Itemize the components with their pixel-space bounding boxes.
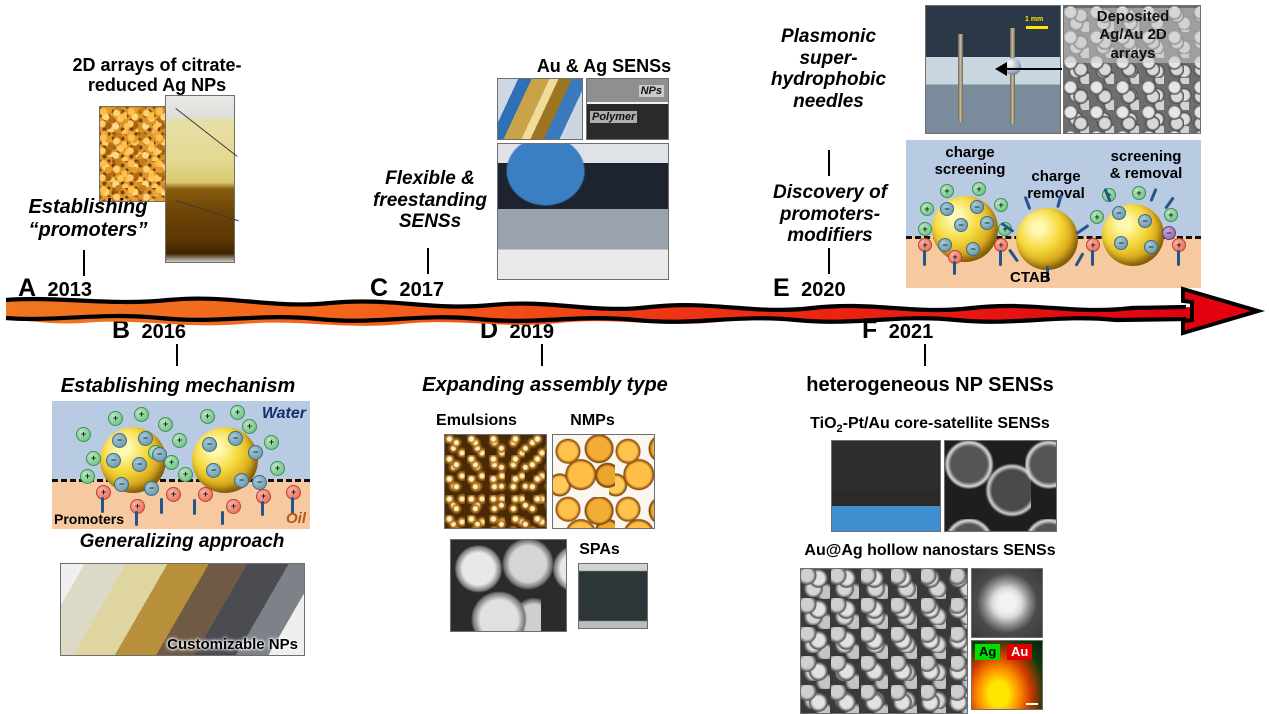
positive-charge: +: [994, 198, 1008, 212]
negative-charge: −: [954, 218, 968, 232]
section-b-subtitle: Generalizing approach: [48, 531, 316, 553]
negative-charge: −: [114, 477, 129, 492]
timeline-figure: 2D arrays of citrate- reduced Ag NPs Est…: [0, 0, 1269, 714]
milestone-a-year: 2013: [48, 279, 93, 301]
deposited-array-caption: Deposited Ag/Au 2D arrays: [1064, 8, 1201, 63]
ctab-label3-line1: screening: [1092, 148, 1200, 165]
section-a-heading: 2D arrays of citrate- reduced Ag NPs: [42, 55, 272, 95]
section-a-subtitle-line1: Establishing: [8, 196, 168, 219]
positive-charge: +: [1132, 186, 1146, 200]
negative-charge: −: [966, 242, 980, 256]
negative-charge: −: [144, 481, 159, 496]
deposited-caption-line1: Deposited: [1064, 8, 1201, 26]
negative-charge: −: [970, 200, 984, 214]
positive-charge: +: [242, 419, 257, 434]
section-a-heading-line1: 2D arrays of citrate-: [42, 55, 272, 75]
section-a-subtitle-line2: “promoters”: [8, 219, 168, 242]
milestone-e-letter: E: [773, 274, 790, 302]
tio2-title-pre: TiO: [810, 415, 836, 432]
section-d-title: Expanding assembly type: [400, 374, 690, 397]
freestanding-film-photo: [497, 143, 669, 280]
milestone-f[interactable]: F 2021: [862, 316, 933, 345]
negative-charge: −: [938, 238, 952, 252]
positive-charge: +: [972, 182, 986, 196]
promoter-head: +: [226, 499, 241, 514]
positive-charge: +: [134, 407, 149, 422]
promoter-tail: [1091, 250, 1094, 266]
oil-label: Oil: [286, 510, 306, 527]
section-a-subtitle: Establishing “promoters”: [8, 196, 168, 242]
promoter-tail: [221, 511, 224, 525]
sem-cross-section-image: NPs Polymer: [586, 78, 669, 140]
milestone-b-year: 2016: [142, 321, 187, 343]
milestone-d-year: 2019: [510, 321, 555, 343]
negative-charge: −: [112, 433, 127, 448]
nanostars-group-title: Au@Ag hollow nanostars SENSs: [770, 542, 1090, 560]
negative-charge: −: [106, 453, 121, 468]
negative-charge: −: [980, 216, 994, 230]
section-e-caption-line1: Discovery of: [766, 182, 894, 204]
positive-charge: +: [230, 405, 245, 420]
milestone-d[interactable]: D 2019: [480, 316, 554, 345]
ctab-label-screening-removal: screening & removal: [1092, 148, 1200, 182]
spas-label: SPAs: [552, 541, 647, 559]
needle-left: [958, 34, 963, 122]
positive-charge: +: [80, 469, 95, 484]
tem-core-satellite-image: [944, 440, 1057, 532]
promoter-head: +: [166, 487, 181, 502]
section-e-subtitle-line2: super-: [766, 48, 891, 70]
negative-charge: −: [1114, 236, 1128, 250]
nanostar-field-sem-image: [800, 568, 968, 714]
section-b-stem: [176, 344, 178, 366]
section-e-subtitle: Plasmonic super- hydrophobic needles: [766, 26, 891, 113]
positive-charge: +: [200, 409, 215, 424]
section-c-subtitle-line2: freestanding: [360, 190, 500, 212]
section-e-stem-lower: [828, 248, 830, 274]
negative-charge: −: [132, 457, 147, 472]
spas-vial-image: [578, 563, 648, 629]
section-c-heading: Au & Ag SENSs: [494, 56, 714, 76]
section-a-heading-line2: reduced Ag NPs: [42, 75, 272, 95]
negative-charge: −: [1144, 240, 1158, 254]
milestone-b[interactable]: B 2016: [112, 316, 186, 345]
negative-charge: −: [202, 437, 217, 452]
edx-map-image: Ag Au: [971, 640, 1043, 710]
edx-scale-bar: [1026, 703, 1038, 705]
negative-charge: −: [152, 447, 167, 462]
section-c-stem: [427, 248, 429, 274]
emulsions-label: Emulsions: [424, 412, 529, 430]
section-f-stem: [924, 344, 926, 366]
milestone-a[interactable]: A 2013: [18, 274, 92, 303]
emulsions-image: [444, 434, 547, 529]
modifier-charge: −: [1162, 226, 1176, 240]
section-b-title: Establishing mechanism: [38, 375, 318, 398]
milestone-d-letter: D: [480, 316, 498, 344]
positive-charge: +: [172, 433, 187, 448]
section-c-subtitle-line3: SENSs: [360, 211, 500, 233]
positive-charge: +: [178, 467, 193, 482]
milestone-f-year: 2021: [889, 321, 934, 343]
section-f-title: heterogeneous NP SENSs: [790, 374, 1070, 396]
positive-charge: +: [86, 451, 101, 466]
customizable-nps-caption: Customizable NPs: [167, 636, 298, 653]
nmps-label: NMPs: [540, 412, 645, 430]
ctab-label2-line1: charge: [1010, 168, 1102, 185]
promoter-tail: [999, 250, 1002, 266]
ctab-surfactant-label: CTAB: [1010, 269, 1051, 286]
section-c-subtitle-line1: Flexible &: [360, 168, 500, 190]
negative-charge: −: [228, 431, 243, 446]
polymer-label: Polymer: [590, 111, 637, 123]
milestone-a-letter: A: [18, 274, 36, 302]
promoter-tail: [261, 501, 264, 516]
negative-charge: −: [1112, 206, 1126, 220]
milestone-e-year: 2020: [801, 279, 846, 301]
negative-charge: −: [252, 475, 267, 490]
sem-microparticles-image: [450, 539, 567, 632]
positive-charge: +: [1090, 210, 1104, 224]
promoter-tail: [135, 511, 138, 526]
positive-charge: +: [920, 202, 934, 216]
tio2-nanotube-photo: [831, 440, 941, 532]
gold-film-on-glove-photo: [497, 78, 583, 140]
positive-charge: +: [918, 222, 932, 236]
water-label: Water: [262, 405, 306, 423]
milestone-c-year: 2017: [400, 279, 445, 301]
nps-label: NPs: [639, 85, 664, 97]
positive-charge: +: [158, 417, 173, 432]
single-nanostar-image: [971, 568, 1043, 638]
negative-charge: −: [248, 445, 263, 460]
section-e-caption-line2: promoters-: [766, 204, 894, 226]
section-e-stem-upper: [828, 150, 830, 176]
timeline-arrowhead: [1183, 289, 1258, 333]
section-e-subtitle-line4: needles: [766, 91, 891, 113]
amber-vial-photo: [165, 95, 235, 263]
positive-charge: +: [76, 427, 91, 442]
promoter-tail: [160, 498, 163, 514]
deposited-caption-line2: Ag/Au 2D: [1064, 26, 1201, 44]
ctab-promoter-modifier-diagram: charge screening charge removal screenin…: [906, 140, 1201, 288]
promoter-mechanism-diagram: + + + + + + + + + + + + + + + − − − − − …: [52, 401, 310, 529]
negative-charge: −: [138, 431, 153, 446]
promoters-label: Promoters: [54, 511, 124, 527]
ctab-label1-line1: charge: [920, 144, 1020, 161]
edx-au-label: Au: [1007, 644, 1032, 660]
positive-charge: +: [108, 411, 123, 426]
negative-charge: −: [234, 473, 249, 488]
milestone-f-letter: F: [862, 316, 877, 344]
negative-charge: −: [206, 463, 221, 478]
negative-charge: −: [1138, 214, 1152, 228]
positive-charge: +: [1164, 208, 1178, 222]
positive-charge: +: [270, 461, 285, 476]
needle-right: [1010, 28, 1015, 124]
ctab-label3-line2: & removal: [1092, 165, 1200, 182]
negative-charge: −: [940, 202, 954, 216]
deposited-caption-line3: arrays: [1064, 45, 1201, 63]
positive-charge: +: [264, 435, 279, 450]
tio2-title-post: -Pt/Au core-satellite SENSs: [843, 415, 1050, 432]
timeline-top-outline: [6, 299, 1186, 310]
scale-bar-label: 1 mm: [1025, 16, 1043, 23]
customizable-nps-vials-photo: Customizable NPs: [60, 563, 305, 656]
droplet-callout-line: [1000, 68, 1062, 70]
milestone-c[interactable]: C 2017: [370, 274, 444, 303]
edx-ag-label: Ag: [975, 644, 1000, 660]
section-a-stem: [83, 250, 85, 276]
promoter-tail: [193, 499, 196, 515]
droplet-callout-arrowhead: [995, 62, 1007, 76]
promoter-tail: [1177, 250, 1180, 266]
deposited-2d-array-sem-image: Deposited Ag/Au 2D arrays: [1063, 5, 1201, 134]
section-e-subtitle-line1: Plasmonic: [766, 26, 891, 48]
ctab-nanoparticle-middle: [1016, 208, 1078, 270]
section-c-subtitle: Flexible & freestanding SENSs: [360, 168, 500, 233]
ctab-label1-line2: screening: [920, 161, 1020, 178]
milestone-b-letter: B: [112, 316, 130, 344]
section-d-stem: [541, 344, 543, 366]
section-e-subtitle-line3: hydrophobic: [766, 69, 891, 91]
section-e-caption: Discovery of promoters- modifiers: [766, 182, 894, 247]
section-e-caption-line3: modifiers: [766, 225, 894, 247]
promoter-tail: [953, 261, 956, 275]
promoter-tail: [923, 250, 926, 266]
milestone-e[interactable]: E 2020: [773, 274, 846, 303]
ctab-label-charge-screening: charge screening: [920, 144, 1020, 178]
scale-bar: [1026, 26, 1048, 29]
milestone-c-letter: C: [370, 274, 388, 302]
promoter-head: +: [198, 487, 213, 502]
nmps-image: [552, 434, 655, 529]
positive-charge: +: [940, 184, 954, 198]
tio2-group-title: TiO2-Pt/Au core-satellite SENSs: [780, 415, 1080, 436]
